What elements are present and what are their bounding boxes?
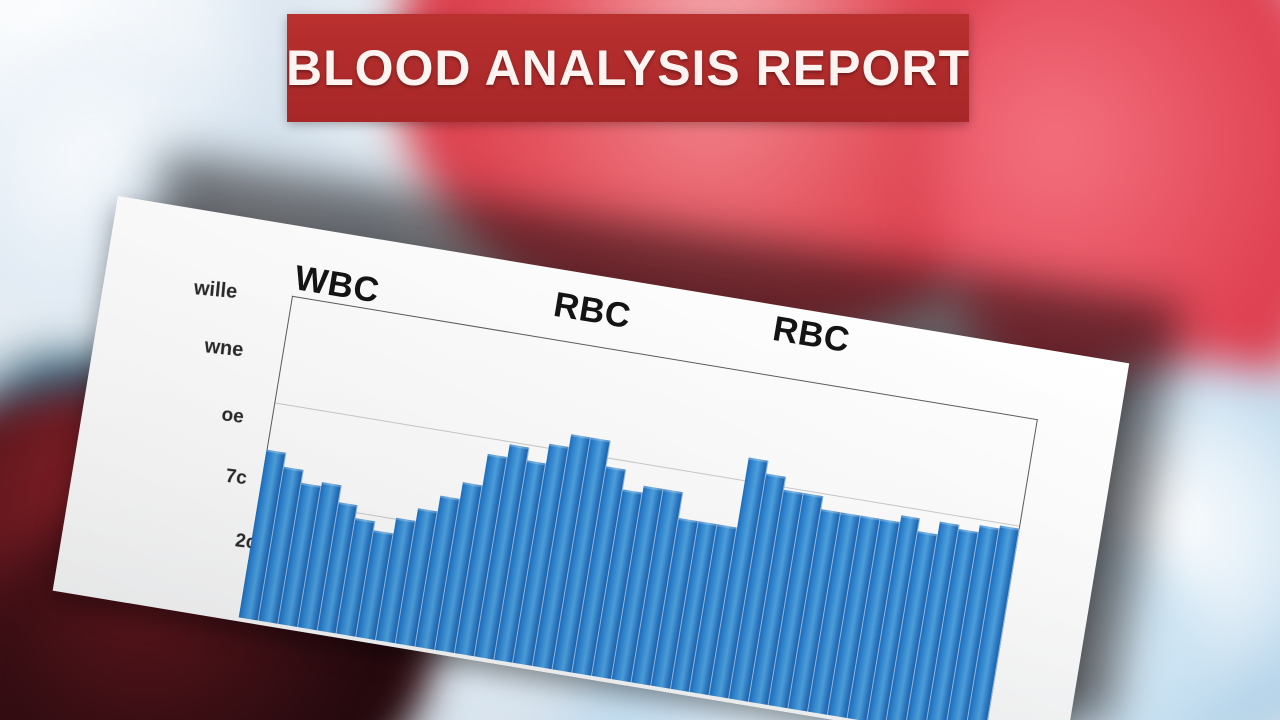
screenshot-stage: BLOOD ANALYSIS REPORT WBC RBC RBC willew… (0, 0, 1280, 720)
series-label-rbc-1: RBC (551, 285, 634, 337)
series-label-rbc-2: RBC (770, 309, 853, 361)
y-axis-tick-label: wille (193, 277, 238, 304)
title-banner: BLOOD ANALYSIS REPORT (287, 14, 969, 122)
y-axis-tick-label: 7c (224, 466, 248, 491)
report-sheet-wrapper: WBC RBC RBC willewneoe7c2cc (118, 196, 1168, 676)
y-axis-tick-label: oe (220, 404, 245, 429)
bar-chart: WBC RBC RBC willewneoe7c2cc (147, 281, 1069, 720)
y-axis-tick-label: wne (203, 335, 244, 362)
page-title: BLOOD ANALYSIS REPORT (286, 39, 970, 97)
